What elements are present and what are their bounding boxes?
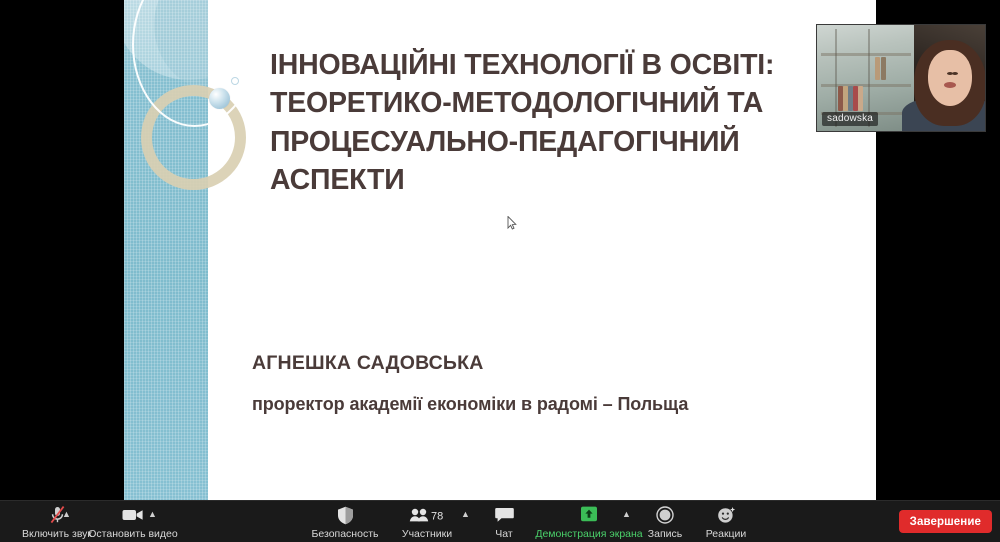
end-meeting-button[interactable]: Завершение <box>899 510 992 533</box>
toolbar-label-chat: Чат <box>495 528 512 540</box>
book <box>858 86 863 110</box>
toolbar-label-participants: Участники <box>402 528 452 540</box>
slide-title: ІННОВАЦІЙНІ ТЕХНОЛОГІЇ В ОСВІТІ: ТЕОРЕТИ… <box>270 46 850 199</box>
shield-icon <box>337 505 354 525</box>
toolbar-button-participants[interactable]: 78 Участники <box>396 503 458 542</box>
toolbar-button-record[interactable]: Запись <box>640 503 690 542</box>
toolbar-button-chat[interactable]: Чат <box>484 503 524 542</box>
self-view-participant-name: sadowska <box>822 112 878 126</box>
book <box>875 57 880 80</box>
band-grid-texture <box>124 0 208 500</box>
toolbar-label-reactions: Реакции <box>706 528 747 540</box>
toolbar-label-share-screen: Демонстрация экрана <box>535 528 642 540</box>
video-self-image <box>914 25 985 131</box>
camera-icon <box>122 505 144 525</box>
small-circle-shape <box>231 77 239 85</box>
slide-author-name: АГНЕШКА САДОВСЬКА <box>252 352 852 375</box>
blue-sphere-shape <box>209 88 230 109</box>
record-circle-icon <box>656 505 674 525</box>
participants-options-chevron-icon[interactable]: ▲ <box>461 509 470 519</box>
share-screen-icon <box>578 505 600 525</box>
self-view-video-tile[interactable]: sadowska <box>816 24 986 132</box>
toolbar-button-security[interactable]: Безопасность <box>306 503 384 542</box>
toolbar-button-reactions[interactable]: Реакции <box>698 503 754 542</box>
share-options-chevron-icon[interactable]: ▲ <box>622 509 631 519</box>
meeting-toolbar: Включить звук ▲ Остановить видео ▲ Безоп <box>0 500 1000 542</box>
shared-screen-stage: ІННОВАЦІЙНІ ТЕХНОЛОГІЇ В ОСВІТІ: ТЕОРЕТИ… <box>0 0 1000 500</box>
toolbar-label-record: Запись <box>648 528 682 540</box>
smiley-reaction-icon <box>717 505 736 525</box>
mouse-cursor-icon <box>507 216 517 230</box>
participants-count-text: 78 <box>431 510 443 522</box>
presentation-slide: ІННОВАЦІЙНІ ТЕХНОЛОГІЇ В ОСВІТІ: ТЕОРЕТИ… <box>124 0 876 500</box>
video-options-chevron-icon[interactable]: ▲ <box>148 509 157 519</box>
person-face <box>928 50 972 106</box>
person-eye <box>952 72 958 75</box>
chat-bubble-icon <box>495 505 514 525</box>
toolbar-label-security: Безопасность <box>312 528 379 540</box>
zoom-meeting-window: ІННОВАЦІЙНІ ТЕХНОЛОГІЇ В ОСВІТІ: ТЕОРЕТИ… <box>0 0 1000 542</box>
book <box>881 57 886 80</box>
slide-accent-band <box>124 0 208 500</box>
toolbar-button-video[interactable]: Остановить видео <box>76 503 190 542</box>
person-mouth <box>944 82 956 88</box>
toolbar-label-video: Остановить видео <box>88 528 177 540</box>
people-icon: 78 <box>409 505 445 525</box>
audio-options-chevron-icon[interactable]: ▲ <box>62 509 71 519</box>
slide-author-role: проректор академії економіки в радомі – … <box>252 394 876 415</box>
